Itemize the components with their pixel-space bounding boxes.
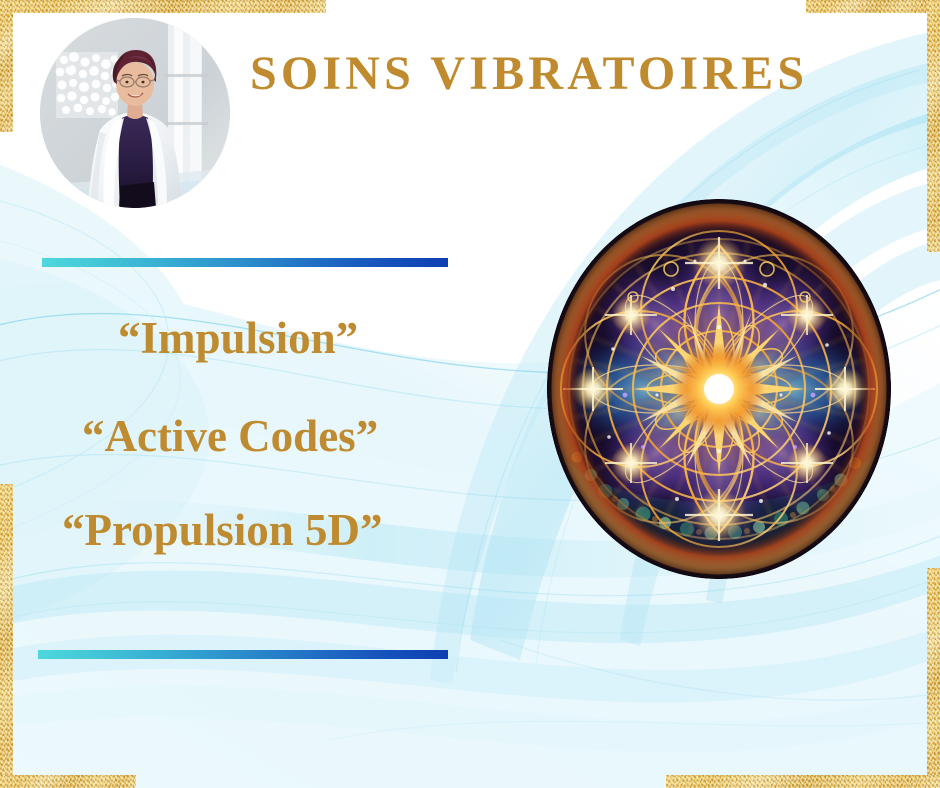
page-title: SOINS VIBRATOIRES [250,50,910,98]
corner-bottom-left-horizontal [0,775,136,788]
mandala-image [547,199,891,579]
phrase-impulsion: “Impulsion” [118,316,358,361]
avatar [40,18,230,208]
phrase-propulsion-5d: “Propulsion 5D” [62,508,383,553]
phrase-active-codes: “Active Codes” [82,414,378,459]
corner-bottom-right-horizontal [666,775,940,788]
corner-top-right-horizontal [806,0,940,13]
corner-bottom-right-vertical [927,568,940,788]
corner-top-left-horizontal [0,0,326,13]
corner-bottom-left-vertical [0,484,13,788]
poster-canvas: SOINS VIBRATOIRES “Impulsion” “Active Co… [0,0,940,788]
corner-top-right-vertical [927,0,940,252]
corner-top-left-vertical [0,0,13,132]
portrait-photo [40,18,230,208]
divider-bottom [38,650,448,659]
divider-top [42,258,448,267]
sacred-geometry-mandala [547,199,891,579]
